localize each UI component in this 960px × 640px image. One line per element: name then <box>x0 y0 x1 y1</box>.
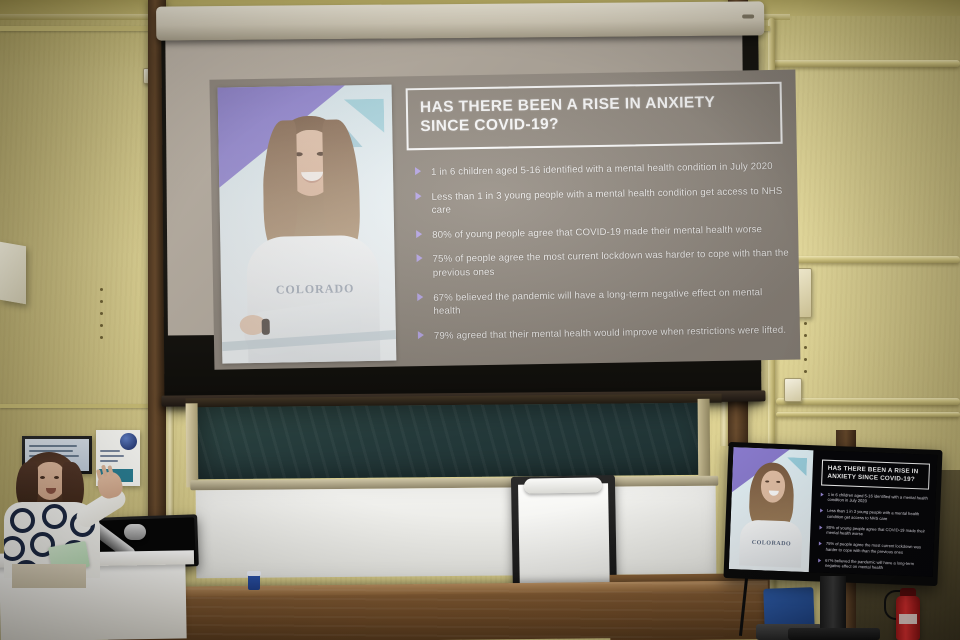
blouse-circle-pattern <box>42 504 67 529</box>
bullet-arrow-icon <box>417 254 423 262</box>
tv-stand-base <box>788 628 880 640</box>
wall-fixing-screws <box>804 322 808 382</box>
ohp-film-roll <box>524 477 602 493</box>
slide-bullet-text: 79% agreed that their mental health woul… <box>434 324 792 344</box>
slide-bullet-text: 75% of people agree the most current loc… <box>432 247 790 280</box>
confidence-monitor[interactable]: COLORADO HAS THERE BEEN A RISE IN ANXIET… <box>723 442 942 586</box>
tv-slide-photo: COLORADO <box>729 447 814 572</box>
poster-globe-graphic <box>120 433 137 450</box>
tv-bullet-text: 1 in 6 children aged 5-16 identified wit… <box>827 492 928 507</box>
tv-photo-teal-shape <box>786 457 807 476</box>
wall-pipe-horizontal-low2 <box>776 412 960 417</box>
tv-bullet-arrow-icon <box>819 525 822 529</box>
slide-title-box: HAS THERE BEEN A RISE IN ANXIETY SINCE C… <box>406 82 783 150</box>
slide-bullet-item: 1 in 6 children aged 5-16 identified wit… <box>413 160 789 180</box>
wall-pipe-horizontal-top <box>770 60 960 67</box>
blue-container-lid <box>247 571 261 576</box>
photo-projection-wash <box>218 85 397 364</box>
tv-slide-title-text: HAS THERE BEEN A RISE IN ANXIETY SINCE C… <box>827 465 924 485</box>
tv-bullet-arrow-icon <box>821 492 824 496</box>
slide-bullet-text: Less than 1 in 3 young people with a men… <box>431 184 789 217</box>
wall-socket <box>784 378 802 402</box>
ohp-transparency-sheet <box>518 483 610 589</box>
slide-bullet-item: 79% agreed that their mental health woul… <box>416 324 792 344</box>
tv-bullet-item: 67% believed the pandemic will have a lo… <box>818 557 926 572</box>
slide-bullet-item: 80% of young people agree that COVID-19 … <box>414 222 790 242</box>
wall-fixing-screws-left <box>100 288 104 348</box>
presenter-eye-right <box>54 476 59 479</box>
tv-screen: COLORADO HAS THERE BEEN A RISE IN ANXIET… <box>729 447 938 577</box>
lecture-desk <box>108 581 769 640</box>
tv-bullet-arrow-icon <box>819 542 822 546</box>
tv-bullet-arrow-icon <box>818 558 821 562</box>
tv-bullet-text: Less than 1 in 3 young people with a men… <box>827 508 928 523</box>
blouse-circle-pattern <box>10 508 35 533</box>
chalkboard-frame-left <box>186 403 199 487</box>
chalkboard-surface <box>196 403 709 479</box>
slide-bullet-item: Less than 1 in 3 young people with a men… <box>413 184 789 218</box>
slide-title-text: HAS THERE BEEN A RISE IN ANXIETY SINCE C… <box>420 93 769 137</box>
chalkboard-smudges <box>196 403 709 479</box>
slide-bullet-list: 1 in 6 children aged 5-16 identified wit… <box>413 160 792 355</box>
presenter-finger <box>107 465 114 477</box>
tv-bullet-arrow-icon <box>820 509 823 513</box>
blouse-circle-pattern <box>4 536 25 561</box>
bullet-arrow-icon <box>416 230 422 238</box>
wall-mounted-box <box>0 242 26 305</box>
tv-bullet-item: 75% of people agree the most current loc… <box>819 541 927 556</box>
projected-slide: COLORADO HAS THERE BEEN A RISE IN ANXIET… <box>209 70 800 370</box>
projection-screen: COLORADO HAS THERE BEEN A RISE IN ANXIET… <box>152 0 772 413</box>
tv-bullet-text: 80% of young people agree that COVID-19 … <box>826 525 927 540</box>
bullet-arrow-icon <box>415 192 421 200</box>
chalkboard-frame-right <box>698 399 711 483</box>
lecture-room-photo: COLORADO HAS THERE BEEN A RISE IN ANXIET… <box>0 0 960 640</box>
slide-bullet-text: 1 in 6 children aged 5-16 identified wit… <box>431 160 789 180</box>
slide-bullet-text: 80% of young people agree that COVID-19 … <box>432 222 790 242</box>
tv-bullet-text: 75% of people agree the most current loc… <box>826 541 927 556</box>
slide-text-column: HAS THERE BEEN A RISE IN ANXIETY SINCE C… <box>406 78 793 359</box>
fire-extinguisher-label <box>899 614 917 624</box>
tv-bullet-item: 1 in 6 children aged 5-16 identified wit… <box>820 491 928 506</box>
white-wall-panel <box>196 486 717 579</box>
tv-bullet-item: Less than 1 in 3 young people with a men… <box>820 508 928 523</box>
tv-slide-title-box: HAS THERE BEEN A RISE IN ANXIETY SINCE C… <box>821 460 930 490</box>
tv-bullet-text: 67% believed the pandemic will have a lo… <box>825 558 926 573</box>
slide-photo: COLORADO <box>218 85 397 364</box>
bullet-arrow-icon <box>415 167 421 175</box>
tv-photo-person-eye-right <box>776 481 780 483</box>
slide-bullet-text: 67% believed the pandemic will have a lo… <box>433 285 791 318</box>
presenter <box>2 452 126 578</box>
desk-wood-grain <box>108 581 769 640</box>
poster-text-line <box>29 445 77 447</box>
bullet-arrow-icon <box>418 331 424 339</box>
wall-conduit-left <box>0 404 160 408</box>
tv-bullet-item: 80% of young people agree that COVID-19 … <box>819 524 927 539</box>
housing-end-cap <box>742 14 754 18</box>
tv-slide-text-column: HAS THERE BEEN A RISE IN ANXIETY SINCE C… <box>809 450 938 577</box>
wall-pipe-horizontal-mid <box>776 256 960 263</box>
screen-roller-housing <box>156 1 764 40</box>
presenter-eye-left <box>40 476 45 479</box>
tv-slide-content: COLORADO HAS THERE BEEN A RISE IN ANXIET… <box>729 447 938 577</box>
monitor-arm-hinge <box>124 524 146 540</box>
blue-container <box>248 574 260 590</box>
presenter-trousers <box>12 564 86 588</box>
wall-pipe-horizontal-low <box>776 398 960 405</box>
slide-bullet-item: 75% of people agree the most current loc… <box>414 247 790 281</box>
bullet-arrow-icon <box>417 293 423 301</box>
slide-bullet-item: 67% believed the pandemic will have a lo… <box>415 285 791 319</box>
tv-photo-person-eye-left <box>765 480 769 482</box>
